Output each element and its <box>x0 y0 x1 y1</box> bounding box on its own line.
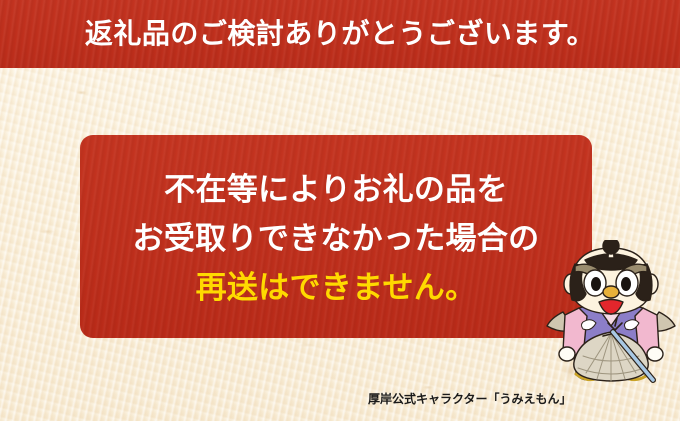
notice-banner-page: 返礼品のご検討ありがとうございます。 不在等によりお礼の品を お受取りできなかっ… <box>0 0 680 421</box>
notice-line-3-accent: 再送はできません。 <box>196 263 477 312</box>
header-bar: 返礼品のご検討ありがとうございます。 <box>0 0 680 68</box>
header-title: 返礼品のご検討ありがとうございます。 <box>85 20 595 48</box>
mascot-caption: 厚岸公式キャラクター「うみえもん」 <box>368 390 572 407</box>
umiemon-mascot-icon <box>541 240 680 388</box>
notice-panel: 不在等によりお礼の品を お受取りできなかった場合の 再送はできません。 <box>80 135 592 338</box>
notice-line-1: 不在等によりお礼の品を <box>164 165 508 214</box>
notice-line-2: お受取りできなかった場合の <box>133 214 540 263</box>
